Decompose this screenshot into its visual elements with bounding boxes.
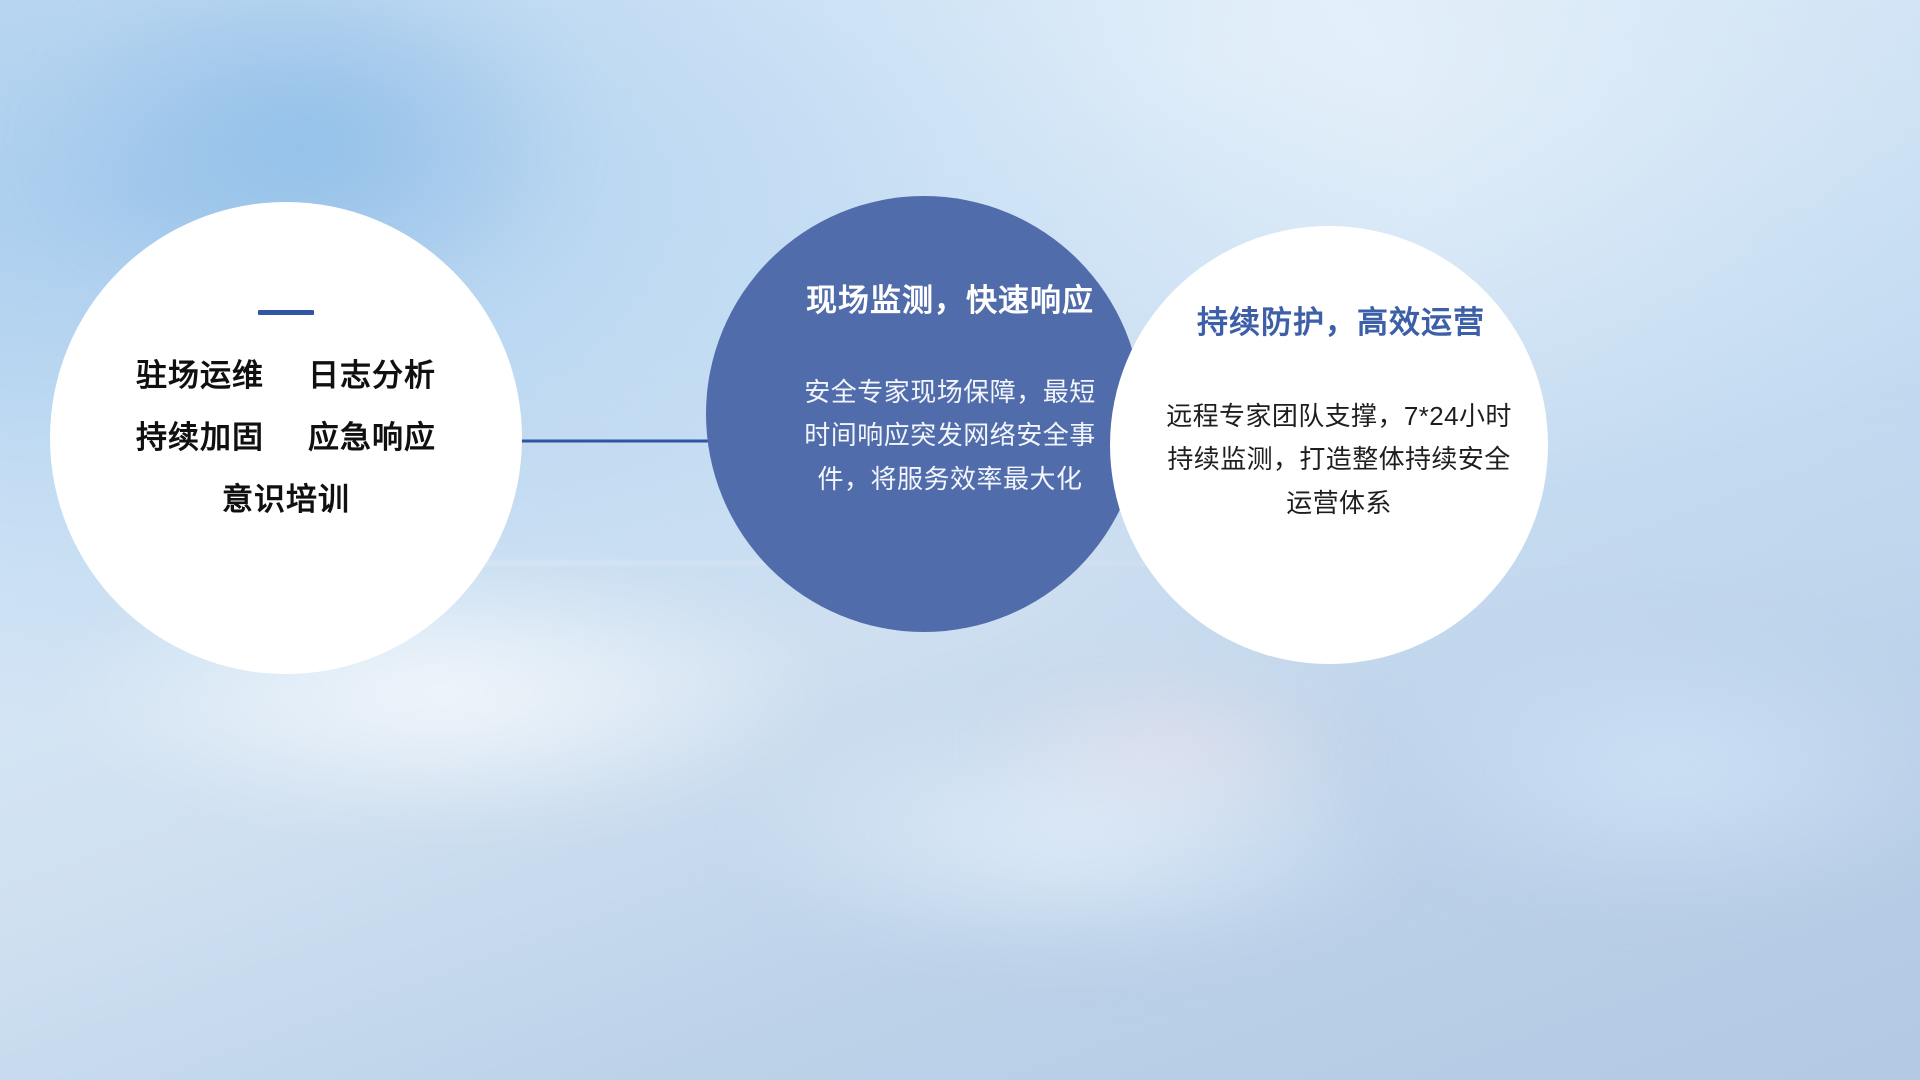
keyword-item: 驻场运维 (136, 360, 264, 391)
left-service-circle[interactable]: 驻场运维 日志分析 持续加固 应急响应 意识培训 (50, 202, 522, 674)
keyword-item: 意识培训 (222, 484, 350, 515)
keyword-row: 持续加固 应急响应 (136, 422, 436, 453)
keyword-row: 意识培训 (222, 484, 350, 515)
middle-circle-title: 现场监测，快速响应 (806, 282, 1094, 319)
left-circle-content: 驻场运维 日志分析 持续加固 应急响应 意识培训 (50, 202, 522, 674)
keyword-list: 驻场运维 日志分析 持续加固 应急响应 意识培训 (136, 360, 436, 515)
keyword-row: 驻场运维 日志分析 (136, 360, 436, 391)
right-service-circle[interactable]: 持续防护，高效运营 远程专家团队支撑，7*24小时持续监测，打造整体持续安全运营… (1110, 226, 1548, 664)
slide-canvas: 驻场运维 日志分析 持续加固 应急响应 意识培训 现场监测，快速响应 安全专家现… (0, 0, 1920, 1080)
middle-highlight-circle[interactable]: 现场监测，快速响应 安全专家现场保障，最短时间响应突发网络安全事件，将服务效率最… (706, 196, 1142, 632)
keyword-item: 持续加固 (136, 422, 264, 453)
right-circle-content: 持续防护，高效运营 远程专家团队支撑，7*24小时持续监测，打造整体持续安全运营… (1110, 226, 1548, 664)
right-circle-title: 持续防护，高效运营 (1197, 304, 1485, 341)
keyword-item: 日志分析 (308, 360, 436, 391)
middle-circle-content: 现场监测，快速响应 安全专家现场保障，最短时间响应突发网络安全事件，将服务效率最… (706, 196, 1142, 632)
right-circle-body: 远程专家团队支撑，7*24小时持续监测，打造整体持续安全运营体系 (1156, 395, 1522, 524)
middle-circle-body: 安全专家现场保障，最短时间响应突发网络安全事件，将服务效率最大化 (804, 371, 1096, 500)
background-shade-bottom-left (0, 648, 806, 1080)
keyword-item: 应急响应 (308, 422, 436, 453)
divider-rule (258, 310, 314, 315)
